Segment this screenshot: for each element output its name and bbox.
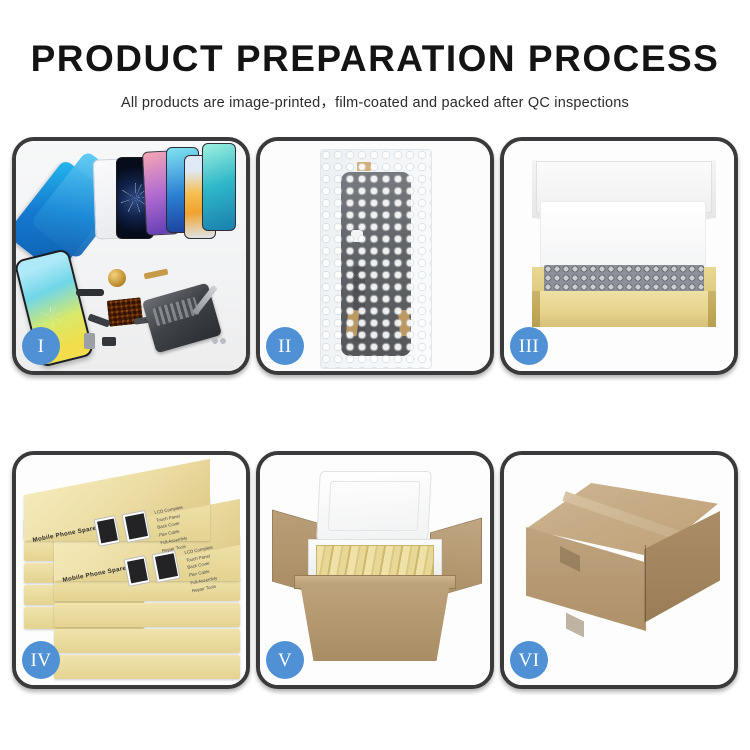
- wrapped-screen-assembly: [341, 172, 411, 356]
- process-step-5: V: [256, 451, 494, 689]
- process-step-2: II: [256, 137, 494, 375]
- page-title: PRODUCT PREPARATION PROCESS: [0, 40, 750, 79]
- stacked-box-front-4: [54, 655, 240, 679]
- step-badge-5: V: [266, 641, 304, 679]
- speaker-part-icon: [76, 289, 104, 296]
- process-step-6: VI: [500, 451, 738, 689]
- carton-tab-lower: [566, 613, 584, 638]
- header: PRODUCT PREPARATION PROCESS All products…: [0, 40, 750, 112]
- button-part-icon: [102, 337, 116, 346]
- box-stack: Mobile Phone Spare Parts LCD Complete To…: [20, 473, 246, 675]
- page-subtitle: All products are image-printed，film-coat…: [0, 91, 750, 112]
- stacked-box-front-2: [54, 603, 240, 627]
- carton-body: [300, 583, 450, 661]
- step-badge-4: IV: [22, 641, 60, 679]
- step-badge-6: VI: [510, 641, 548, 679]
- flex-cable-2-icon: [87, 313, 110, 327]
- step-badge-3: III: [510, 327, 548, 365]
- tape-strip-right-icon: [398, 310, 411, 337]
- screws-icon: [212, 337, 230, 345]
- process-step-1: I: [12, 137, 250, 375]
- stacked-box-front-3: [54, 629, 240, 653]
- product-preparation-infographic: PRODUCT PREPARATION PROCESS All products…: [0, 0, 750, 750]
- carton-corner-seam: [645, 545, 646, 621]
- foam-case-lid: [316, 471, 432, 541]
- process-step-4: Mobile Phone Spare Parts LCD Complete To…: [12, 451, 250, 689]
- printed-box-1: Mobile Phone Spare Parts LCD Complete To…: [24, 495, 210, 541]
- tape-strip-top-icon: [357, 162, 371, 171]
- step-badge-1: I: [22, 327, 60, 365]
- step-badge-2: II: [266, 327, 304, 365]
- camera-module-icon: [84, 333, 95, 349]
- box-front-wall: [532, 291, 716, 327]
- green-phone-icon: [202, 143, 236, 231]
- packed-yellow-boxes: [316, 545, 434, 579]
- printed-box-2: Mobile Phone Spare Parts LCD Complete To…: [54, 535, 240, 581]
- white-foam-sheet: [540, 201, 706, 267]
- vibration-motor-icon: [108, 269, 126, 287]
- connector-label-icon: [351, 230, 363, 242]
- process-step-grid: I II: [12, 137, 738, 689]
- bubble-wrap-bag: [320, 149, 432, 369]
- flex-cable-1-icon: [144, 269, 169, 280]
- process-step-3: III: [500, 137, 738, 375]
- tape-strip-left-icon: [346, 309, 360, 336]
